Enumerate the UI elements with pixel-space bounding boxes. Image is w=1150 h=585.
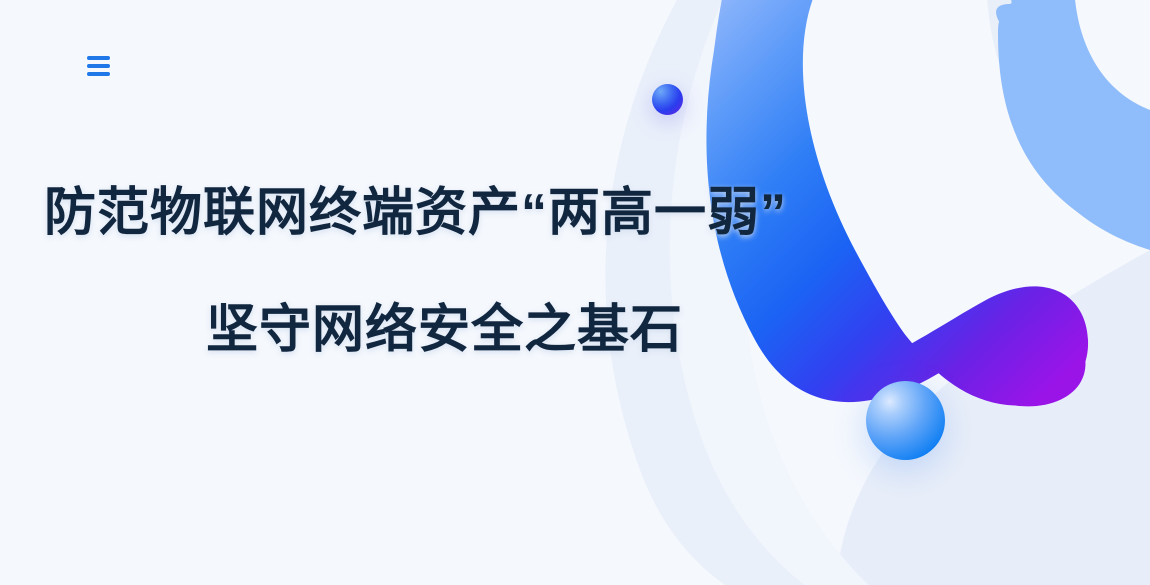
hamburger-bar-top [87,56,110,60]
light-blue-arc-cap [998,0,1066,64]
large-blue-sphere [866,381,945,460]
page-title: 防范物联网终端资产“两高一弱” 坚守网络安全之基石 [0,186,880,358]
hamburger-bar-bottom [87,72,110,76]
hamburger-bar-middle [87,64,110,68]
pale-arc-top-right [986,0,1150,206]
light-blue-arc-band [996,4,1150,240]
light-blue-arc-sweep [998,2,1150,248]
hamburger-menu-icon[interactable] [82,50,114,82]
headline-line-2: 坚守网络安全之基石 [0,303,880,358]
slide-canvas: 防范物联网终端资产“两高一弱” 坚守网络安全之基石 [0,0,1150,585]
light-blue-arc-hook [1002,4,1150,250]
light-blue-arc [1010,0,1150,186]
small-gradient-sphere [652,84,683,115]
headline-line-1: 防范物联网终端资产“两高一弱” [0,186,880,241]
